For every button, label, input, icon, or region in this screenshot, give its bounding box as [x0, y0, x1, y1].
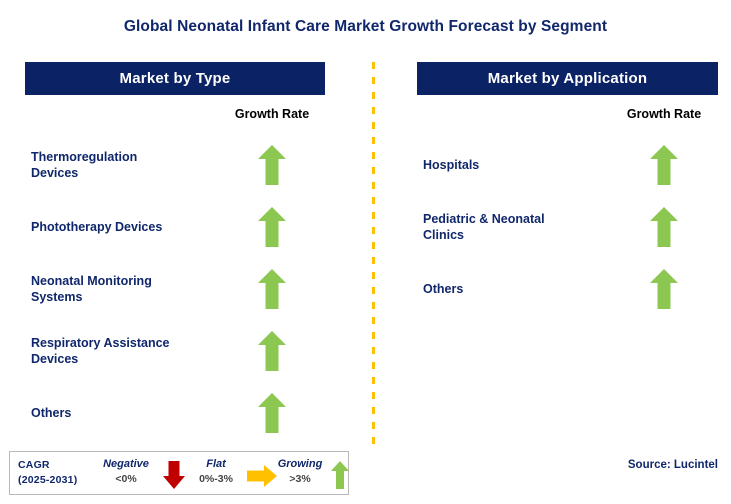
table-row: Pediatric & Neonatal Clinics: [417, 196, 718, 258]
legend-flat-range: 0%-3%: [178, 472, 254, 486]
legend-cagr-title: CAGR (2025-2031): [18, 458, 77, 488]
legend-growing-title: Growing: [262, 457, 338, 472]
legend-negative-range: <0%: [88, 472, 164, 486]
up-arrow-icon: [257, 330, 287, 372]
table-row: Respiratory Assistance Devices: [25, 320, 325, 382]
segment-label: Pediatric & Neonatal Clinics: [417, 211, 632, 244]
legend-cagr-line2: (2025-2031): [18, 473, 77, 488]
growth-rate-label-left: Growth Rate: [217, 107, 327, 121]
up-arrow-icon: [649, 268, 679, 310]
growth-rate-label-right: Growth Rate: [609, 107, 719, 121]
segment-label: Respiratory Assistance Devices: [25, 335, 240, 368]
market-by-application-rows: Hospitals Pediatric & Neonatal Clinics O…: [417, 134, 718, 320]
segment-label: Neonatal Monitoring Systems: [25, 273, 240, 306]
segment-label: Thermoregulation Devices: [25, 149, 240, 182]
segment-label: Others: [25, 405, 240, 422]
legend-cagr-line1: CAGR: [18, 458, 77, 473]
table-row: Others: [417, 258, 718, 320]
table-row: Phototherapy Devices: [25, 196, 325, 258]
up-arrow-icon: [257, 268, 287, 310]
up-arrow-icon: [257, 144, 287, 186]
up-arrow-icon: [649, 144, 679, 186]
legend-item-growing: Growing >3%: [262, 457, 338, 486]
legend-item-flat: Flat 0%-3%: [178, 457, 254, 486]
segment-label: Others: [417, 281, 632, 298]
table-row: Neonatal Monitoring Systems: [25, 258, 325, 320]
market-by-type-header: Market by Type: [25, 62, 325, 95]
legend-growing-range: >3%: [262, 472, 338, 486]
legend-negative-title: Negative: [88, 457, 164, 472]
page-title: Global Neonatal Infant Care Market Growt…: [0, 18, 731, 36]
legend-flat-title: Flat: [178, 457, 254, 472]
panel-divider: [372, 62, 375, 447]
segment-label: Hospitals: [417, 157, 632, 174]
market-by-application-header: Market by Application: [417, 62, 718, 95]
cagr-legend: CAGR (2025-2031) Negative <0% Flat 0%-3%: [9, 451, 349, 495]
up-arrow-icon: [257, 206, 287, 248]
chart-canvas: Global Neonatal Infant Care Market Growt…: [0, 0, 731, 504]
up-arrow-icon: [257, 392, 287, 434]
legend-item-negative: Negative <0%: [88, 457, 164, 486]
table-row: Thermoregulation Devices: [25, 134, 325, 196]
table-row: Others: [25, 382, 325, 444]
table-row: Hospitals: [417, 134, 718, 196]
segment-label: Phototherapy Devices: [25, 219, 240, 236]
market-by-application-panel: Market by Application Growth Rate Hospit…: [417, 62, 718, 95]
up-arrow-icon: [649, 206, 679, 248]
up-arrow-icon: [330, 460, 350, 490]
market-by-type-panel: Market by Type Growth Rate Thermoregulat…: [25, 62, 325, 95]
market-by-type-rows: Thermoregulation Devices Phototherapy De…: [25, 134, 325, 444]
source-label: Source: Lucintel: [628, 459, 718, 471]
